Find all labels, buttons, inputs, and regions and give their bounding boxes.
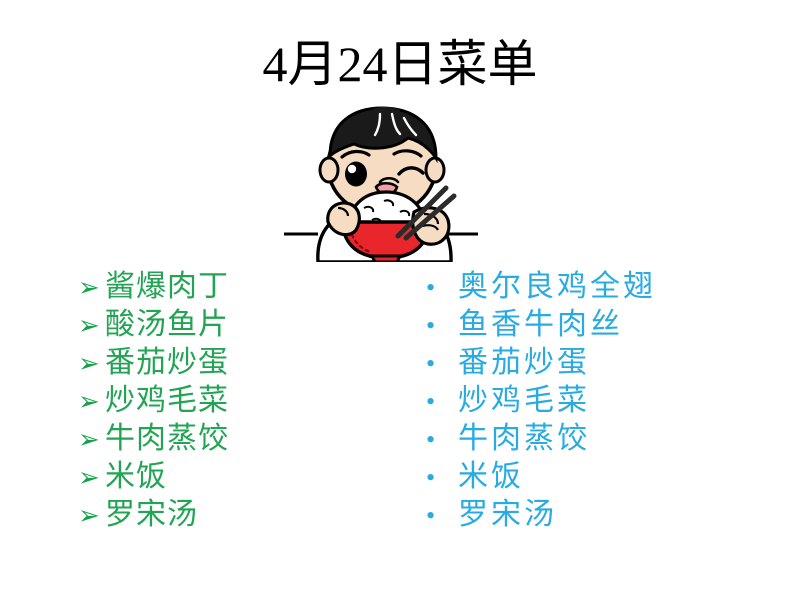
list-item[interactable]: • 奥尔良鸡全翅 (426, 268, 746, 306)
menu-item-label: 炒鸡毛菜 (105, 382, 229, 420)
slide-canvas: 4月24日菜单 (0, 0, 800, 600)
list-item[interactable]: • 炒鸡毛菜 (426, 382, 746, 420)
menu-item-label: 奥尔良鸡全翅 (458, 268, 656, 306)
list-item[interactable]: ➢ 酱爆肉丁 (78, 268, 378, 306)
list-item[interactable]: ➢ 番茄炒蛋 (78, 344, 378, 382)
round-bullet-icon: • (426, 421, 458, 459)
round-bullet-icon: • (426, 459, 458, 497)
list-item[interactable]: ➢ 牛肉蒸饺 (78, 420, 378, 458)
arrow-bullet-icon: ➢ (78, 383, 105, 421)
menu-list-left: ➢ 酱爆肉丁 ➢ 酸汤鱼片 ➢ 番茄炒蛋 ➢ 炒鸡毛菜 ➢ 牛肉蒸饺 ➢ 米饭 … (78, 268, 378, 534)
list-item[interactable]: ➢ 炒鸡毛菜 (78, 382, 378, 420)
round-bullet-icon: • (426, 307, 458, 345)
arrow-bullet-icon: ➢ (78, 307, 105, 345)
menu-item-label: 酸汤鱼片 (105, 306, 229, 344)
round-bullet-icon: • (426, 269, 458, 307)
list-item[interactable]: ➢ 米饭 (78, 458, 378, 496)
menu-item-label: 鱼香牛肉丝 (458, 306, 623, 344)
list-item[interactable]: • 牛肉蒸饺 (426, 420, 746, 458)
round-bullet-icon: • (426, 383, 458, 421)
list-item[interactable]: • 鱼香牛肉丝 (426, 306, 746, 344)
arrow-bullet-icon: ➢ (78, 421, 105, 459)
list-item[interactable]: • 米饭 (426, 458, 746, 496)
menu-item-label: 番茄炒蛋 (105, 344, 229, 382)
menu-item-label: 罗宋汤 (458, 496, 557, 534)
menu-item-label: 罗宋汤 (105, 496, 198, 534)
menu-item-label: 番茄炒蛋 (458, 344, 590, 382)
arrow-bullet-icon: ➢ (78, 345, 105, 383)
menu-item-label: 牛肉蒸饺 (105, 420, 229, 458)
round-bullet-icon: • (426, 497, 458, 535)
arrow-bullet-icon: ➢ (78, 269, 105, 307)
round-bullet-icon: • (426, 345, 458, 383)
menu-item-label: 炒鸡毛菜 (458, 382, 590, 420)
list-item[interactable]: • 罗宋汤 (426, 496, 746, 534)
menu-item-label: 米饭 (105, 458, 167, 496)
arrow-bullet-icon: ➢ (78, 497, 105, 535)
page-title: 4月24日菜单 (0, 34, 800, 94)
list-item[interactable]: ➢ 罗宋汤 (78, 496, 378, 534)
list-item[interactable]: • 番茄炒蛋 (426, 344, 746, 382)
menu-item-label: 米饭 (458, 458, 524, 496)
menu-item-label: 牛肉蒸饺 (458, 420, 590, 458)
boy-eating-rice-clipart (276, 104, 486, 262)
menu-list-right: • 奥尔良鸡全翅 • 鱼香牛肉丝 • 番茄炒蛋 • 炒鸡毛菜 • 牛肉蒸饺 • … (426, 268, 746, 534)
menu-item-label: 酱爆肉丁 (105, 268, 229, 306)
list-item[interactable]: ➢ 酸汤鱼片 (78, 306, 378, 344)
arrow-bullet-icon: ➢ (78, 459, 105, 497)
